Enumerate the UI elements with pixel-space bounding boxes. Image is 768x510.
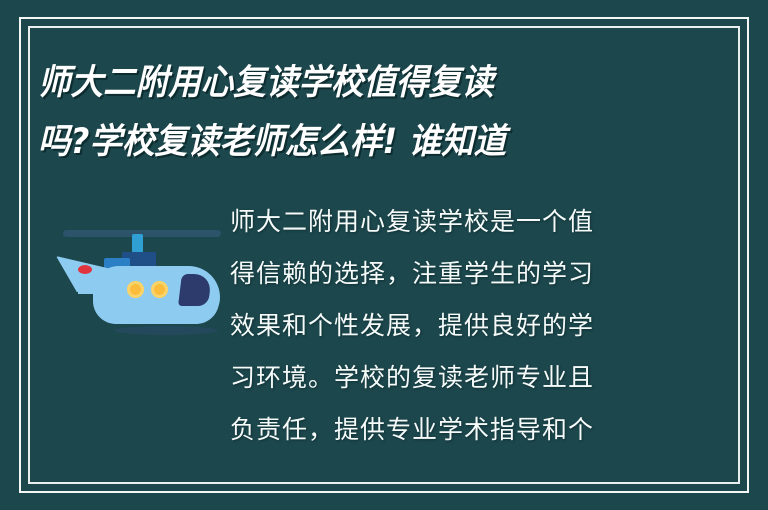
helicopter-window-1 xyxy=(127,281,144,298)
body-paragraph: 师大二附用心复读学校是一个值 得信赖的选择，注重学生的学习 效果和个性发展，提供… xyxy=(230,196,730,456)
helicopter-window-2 xyxy=(151,281,168,298)
headline-line-2: 吗?学校复读老师怎么样! 谁知道 xyxy=(38,113,680,172)
body-line-1: 师大二附用心复读学校是一个值 xyxy=(230,196,730,248)
body-line-5: 负责任，提供专业学术指导和个 xyxy=(230,404,730,456)
body-line-3: 效果和个性发展，提供良好的学 xyxy=(230,300,730,352)
headline-line-1: 师大二附用心复读学校值得复读 xyxy=(38,54,680,113)
body-line-2: 得信赖的选择，注重学生的学习 xyxy=(230,248,730,300)
poster-canvas: 师大二附用心复读学校值得复读 吗?学校复读老师怎么样! 谁知道 师大二附用心复读… xyxy=(0,0,768,510)
content-row: 师大二附用心复读学校是一个值 得信赖的选择，注重学生的学习 效果和个性发展，提供… xyxy=(38,196,730,470)
body-line-4: 习环境。学校的复读老师专业且 xyxy=(230,352,730,404)
helicopter-icon xyxy=(56,208,236,348)
headline-block: 师大二附用心复读学校值得复读 吗?学校复读老师怎么样! 谁知道 xyxy=(38,54,728,172)
helicopter-shadow xyxy=(114,326,218,335)
helicopter-tail-light-icon xyxy=(78,265,92,274)
